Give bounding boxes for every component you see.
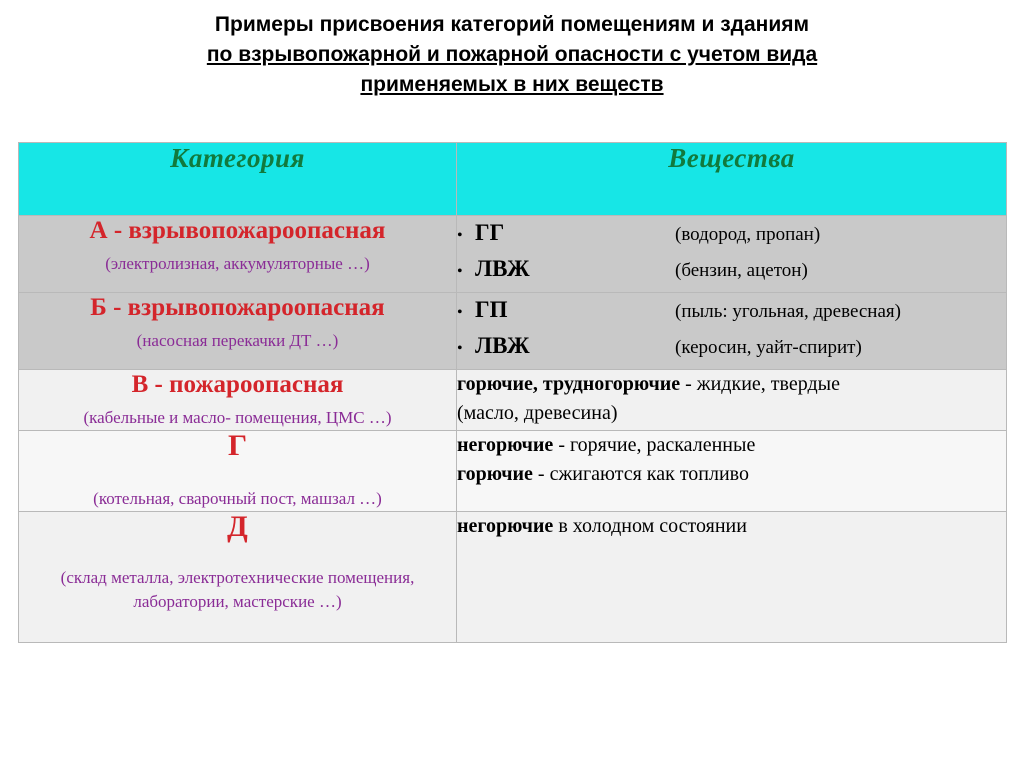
table-row: Г (котельная, сварочный пост, машзал …) … [19,431,1007,512]
substance-line: негорючие - горячие, раскаленные [457,431,1006,460]
page-title-line-2: по взрывопожарной и пожарной опасности с… [60,40,964,70]
table-row: В - пожароопасная (кабельные и масло- по… [19,370,1007,431]
category-name: А - взрывопожароопасная [19,216,456,246]
table-row: А - взрывопожароопасная (электролизная, … [19,216,1007,293]
bullet-icon: • [457,303,475,323]
substance-line-bold: горючие, трудногорючие [457,373,680,395]
substance-bullet-item: • ГП (пыль: угольная, древесная) [457,297,1006,323]
category-examples: (насосная перекачки ДТ …) [19,329,456,353]
table-row: Б - взрывопожароопасная (насосная перека… [19,293,1007,370]
header-cell-category: Категория [19,143,457,216]
page-title-line-1: Примеры присвоения категорий помещениям … [60,10,964,40]
category-cell-b: Б - взрывопожароопасная (насосная перека… [19,293,457,370]
substances-cell-g: негорючие - горячие, раскаленные горючие… [457,431,1007,512]
category-examples: (котельная, сварочный пост, машзал …) [19,487,456,511]
category-cell-d: Д (склад металла, электротехнические пом… [19,512,457,643]
page-title-line-3: применяемых в них веществ [60,70,964,100]
bullet-icon: • [457,339,475,359]
slide-page: Примеры присвоения категорий помещениям … [0,0,1024,767]
category-examples: (склад металла, электротехнические помещ… [19,566,456,614]
bullet-icon: • [457,226,475,246]
header-cell-substances: Вещества [457,143,1007,216]
substance-line: горючие - сжигаются как топливо [457,460,1006,489]
substance-line-bold: негорючие [457,515,553,537]
bullet-icon: • [457,262,475,282]
substance-line: (масло, древесина) [457,399,1006,428]
table-header-row: Категория Вещества [19,143,1007,216]
categories-table: Категория Вещества А - взрывопожароопасн… [18,142,1007,643]
category-name: Г [19,431,456,461]
substance-note: (водород, пропан) [675,224,820,246]
substance-line-rest: - сжигаются как топливо [533,463,749,485]
substance-note: (бензин, ацетон) [675,260,808,282]
substance-label: ЛВЖ [475,333,675,359]
substance-label: ГГ [475,220,675,246]
substance-line-bold: горючие [457,463,533,485]
substance-line-rest: в холодном состоянии [553,515,747,537]
header-label-category: Категория [170,143,305,173]
substance-line-rest: - горячие, раскаленные [553,434,755,456]
table-row: Д (склад металла, электротехнические пом… [19,512,1007,643]
substance-label: ЛВЖ [475,256,675,282]
header-label-substances: Вещества [668,143,794,173]
page-title: Примеры присвоения категорий помещениям … [0,0,1024,100]
category-name: Б - взрывопожароопасная [19,293,456,323]
category-name: Д [19,512,456,542]
substance-bullet-item: • ГГ (водород, пропан) [457,220,1006,246]
category-cell-a: А - взрывопожароопасная (электролизная, … [19,216,457,293]
category-examples: (электролизная, аккумуляторные …) [19,252,456,276]
category-cell-g: Г (котельная, сварочный пост, машзал …) [19,431,457,512]
substance-line-bold: негорючие [457,434,553,456]
substances-cell-v: горючие, трудногорючие - жидкие, твердые… [457,370,1007,431]
category-examples: (кабельные и масло- помещения, ЦМС …) [19,406,456,430]
category-cell-v: В - пожароопасная (кабельные и масло- по… [19,370,457,431]
substance-note: (пыль: угольная, древесная) [675,301,901,323]
substances-cell-d: негорючие в холодном состоянии [457,512,1007,643]
substances-cell-a: • ГГ (водород, пропан) • ЛВЖ (бензин, ац… [457,216,1007,293]
substances-cell-b: • ГП (пыль: угольная, древесная) • ЛВЖ (… [457,293,1007,370]
substance-line: горючие, трудногорючие - жидкие, твердые [457,370,1006,399]
substance-line-rest: - жидкие, твердые [680,373,840,395]
substance-label: ГП [475,297,675,323]
substance-line-rest: (масло, древесина) [457,402,618,424]
categories-table-wrapper: Категория Вещества А - взрывопожароопасн… [18,142,1006,643]
category-name: В - пожароопасная [19,370,456,400]
substance-note: (керосин, уайт-спирит) [675,337,862,359]
substance-bullet-item: • ЛВЖ (бензин, ацетон) [457,256,1006,282]
substance-bullet-item: • ЛВЖ (керосин, уайт-спирит) [457,333,1006,359]
substance-line: негорючие в холодном состоянии [457,512,1006,541]
